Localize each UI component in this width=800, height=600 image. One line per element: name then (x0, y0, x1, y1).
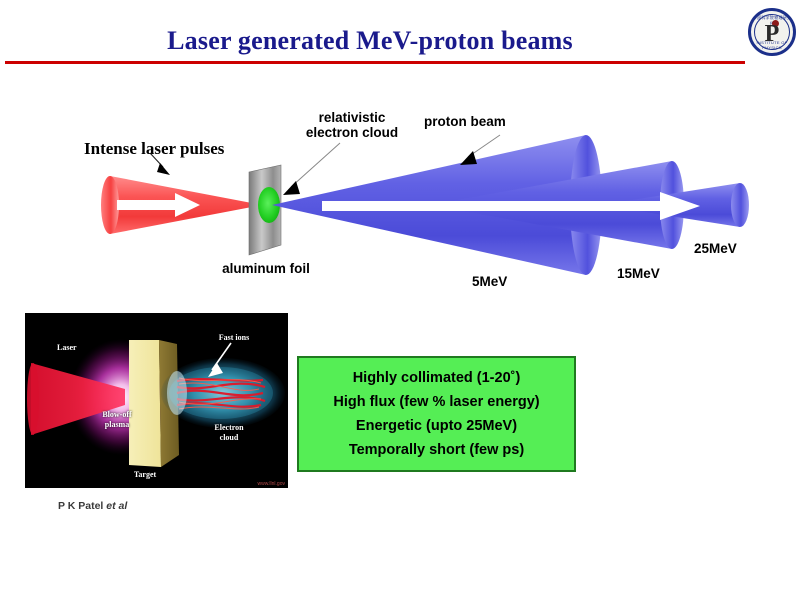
label-aluminum-foil: aluminum foil (195, 261, 337, 276)
inset-label-laser: Laser (57, 343, 77, 353)
label-intense-laser-pulses: Intense laser pulses (84, 139, 224, 159)
label-energy-5mev: 5MeV (472, 274, 507, 289)
summary-line-1: Highly collimated (1-20˚) (353, 366, 521, 390)
summary-line-2: High flux (few % laser energy) (333, 390, 539, 414)
inset-label-electron-cloud: Electron cloud (201, 423, 257, 442)
label-electron-cloud-line2: electron cloud (294, 125, 410, 140)
title-divider (5, 61, 745, 64)
inset-label-blow-off-plasma: Blow-off plasma (87, 410, 147, 429)
simulation-inset-image: Laser Blow-off plasma Target Fast ions E… (25, 313, 288, 488)
summary-box: Highly collimated (1-20˚) High flux (few… (297, 356, 576, 472)
inset-credit-text: www.llnl.gov (257, 481, 285, 487)
summary-line-3: Energetic (upto 25MeV) (356, 414, 517, 438)
slide-canvas: Laser generated MeV-proton beams 中国科学院物理… (0, 0, 800, 600)
inset-label-target: Target (120, 470, 170, 480)
inset-label-fast-ions: Fast ions (205, 333, 263, 343)
citation-author: P K Patel (58, 500, 106, 512)
citation-etal: et al (106, 500, 127, 512)
institute-logo-icon: 中国科学院物理研究所 P INSTITUTE OF PHYSICS (748, 8, 796, 56)
label-energy-25mev: 25MeV (694, 241, 737, 256)
label-relativistic-electron-cloud: relativistic electron cloud (294, 110, 410, 140)
logo-ring-text-bottom: INSTITUTE OF PHYSICS (751, 40, 793, 50)
citation-text: P K Patel et al (58, 500, 127, 512)
aluminum-foil-shape (249, 165, 281, 255)
label-energy-15mev: 15MeV (617, 266, 660, 281)
summary-line-4: Temporally short (few ps) (349, 438, 524, 462)
laser-cone-group (101, 176, 262, 234)
proton-cone-group (272, 135, 749, 275)
label-electron-cloud-line1: relativistic (294, 110, 410, 125)
page-title: Laser generated MeV-proton beams (0, 26, 740, 56)
label-proton-beam: proton beam (424, 114, 506, 129)
